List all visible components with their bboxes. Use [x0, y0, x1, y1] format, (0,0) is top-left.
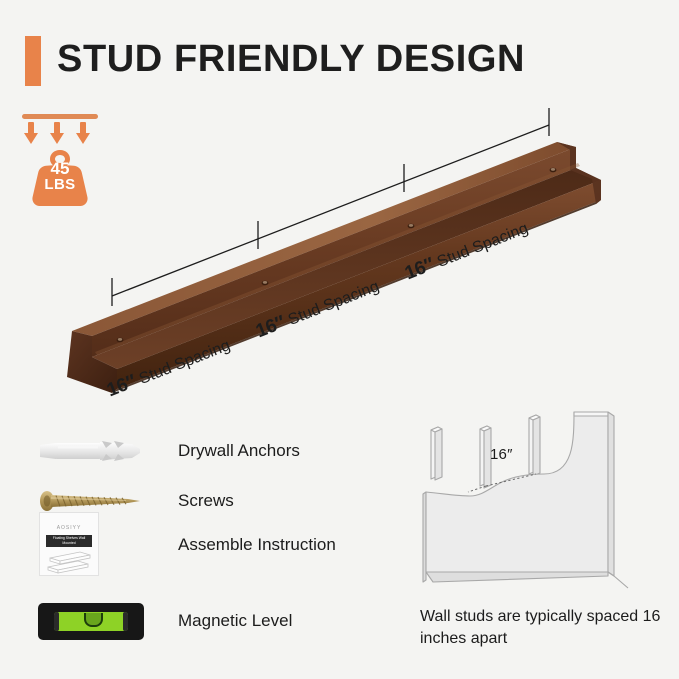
shelf-illustration: 16″ Stud Spacing 16″ Stud Spacing 16″ St… — [0, 100, 679, 400]
level-bubble — [84, 613, 103, 627]
header: STUD FRIENDLY DESIGN — [0, 28, 679, 92]
accessory-label-drywall-anchors: Drywall Anchors — [178, 428, 300, 474]
accessory-item-level: Magnetic Level — [36, 598, 386, 644]
included-accessories-list: Drywall Anchors — [0, 412, 400, 662]
accessory-item-drywall-anchors: Drywall Anchors — [36, 428, 386, 474]
instruction-booklet-icon: AOSIYY Floating Shelves Wall Mounted Pro… — [36, 512, 148, 576]
level-vial-right-cap — [123, 612, 128, 631]
accent-bar — [25, 36, 41, 86]
magnetic-level-icon — [36, 598, 148, 644]
dimension-line — [0, 100, 679, 400]
booklet-band-line1: Floating Shelves Wall Mounted — [46, 536, 92, 547]
wall-stud-diagram: 16″ — [398, 408, 679, 608]
accessory-label-instruction: Assemble Instruction — [178, 522, 336, 568]
stud-diagram-caption: Wall studs are typically spaced 16 inche… — [420, 606, 670, 650]
accessory-item-instruction: AOSIYY Floating Shelves Wall Mounted Pro… — [36, 522, 386, 568]
drywall-anchor-icon — [36, 428, 148, 474]
accessory-label-screws: Screws — [178, 478, 234, 524]
booklet-shelf-drawing — [40, 549, 98, 575]
stud-diagram-dimension: 16″ — [490, 446, 513, 463]
level-vial-left-cap — [54, 612, 59, 631]
page-title: STUD FRIENDLY DESIGN — [57, 28, 525, 90]
infographic-page: STUD FRIENDLY DESIGN — [0, 0, 679, 679]
booklet-title-band: Floating Shelves Wall Mounted Product In… — [46, 535, 92, 547]
accessory-label-level: Magnetic Level — [178, 598, 292, 644]
wall-stud-graphic — [398, 408, 679, 608]
booklet-logo: AOSIYY — [40, 525, 98, 531]
